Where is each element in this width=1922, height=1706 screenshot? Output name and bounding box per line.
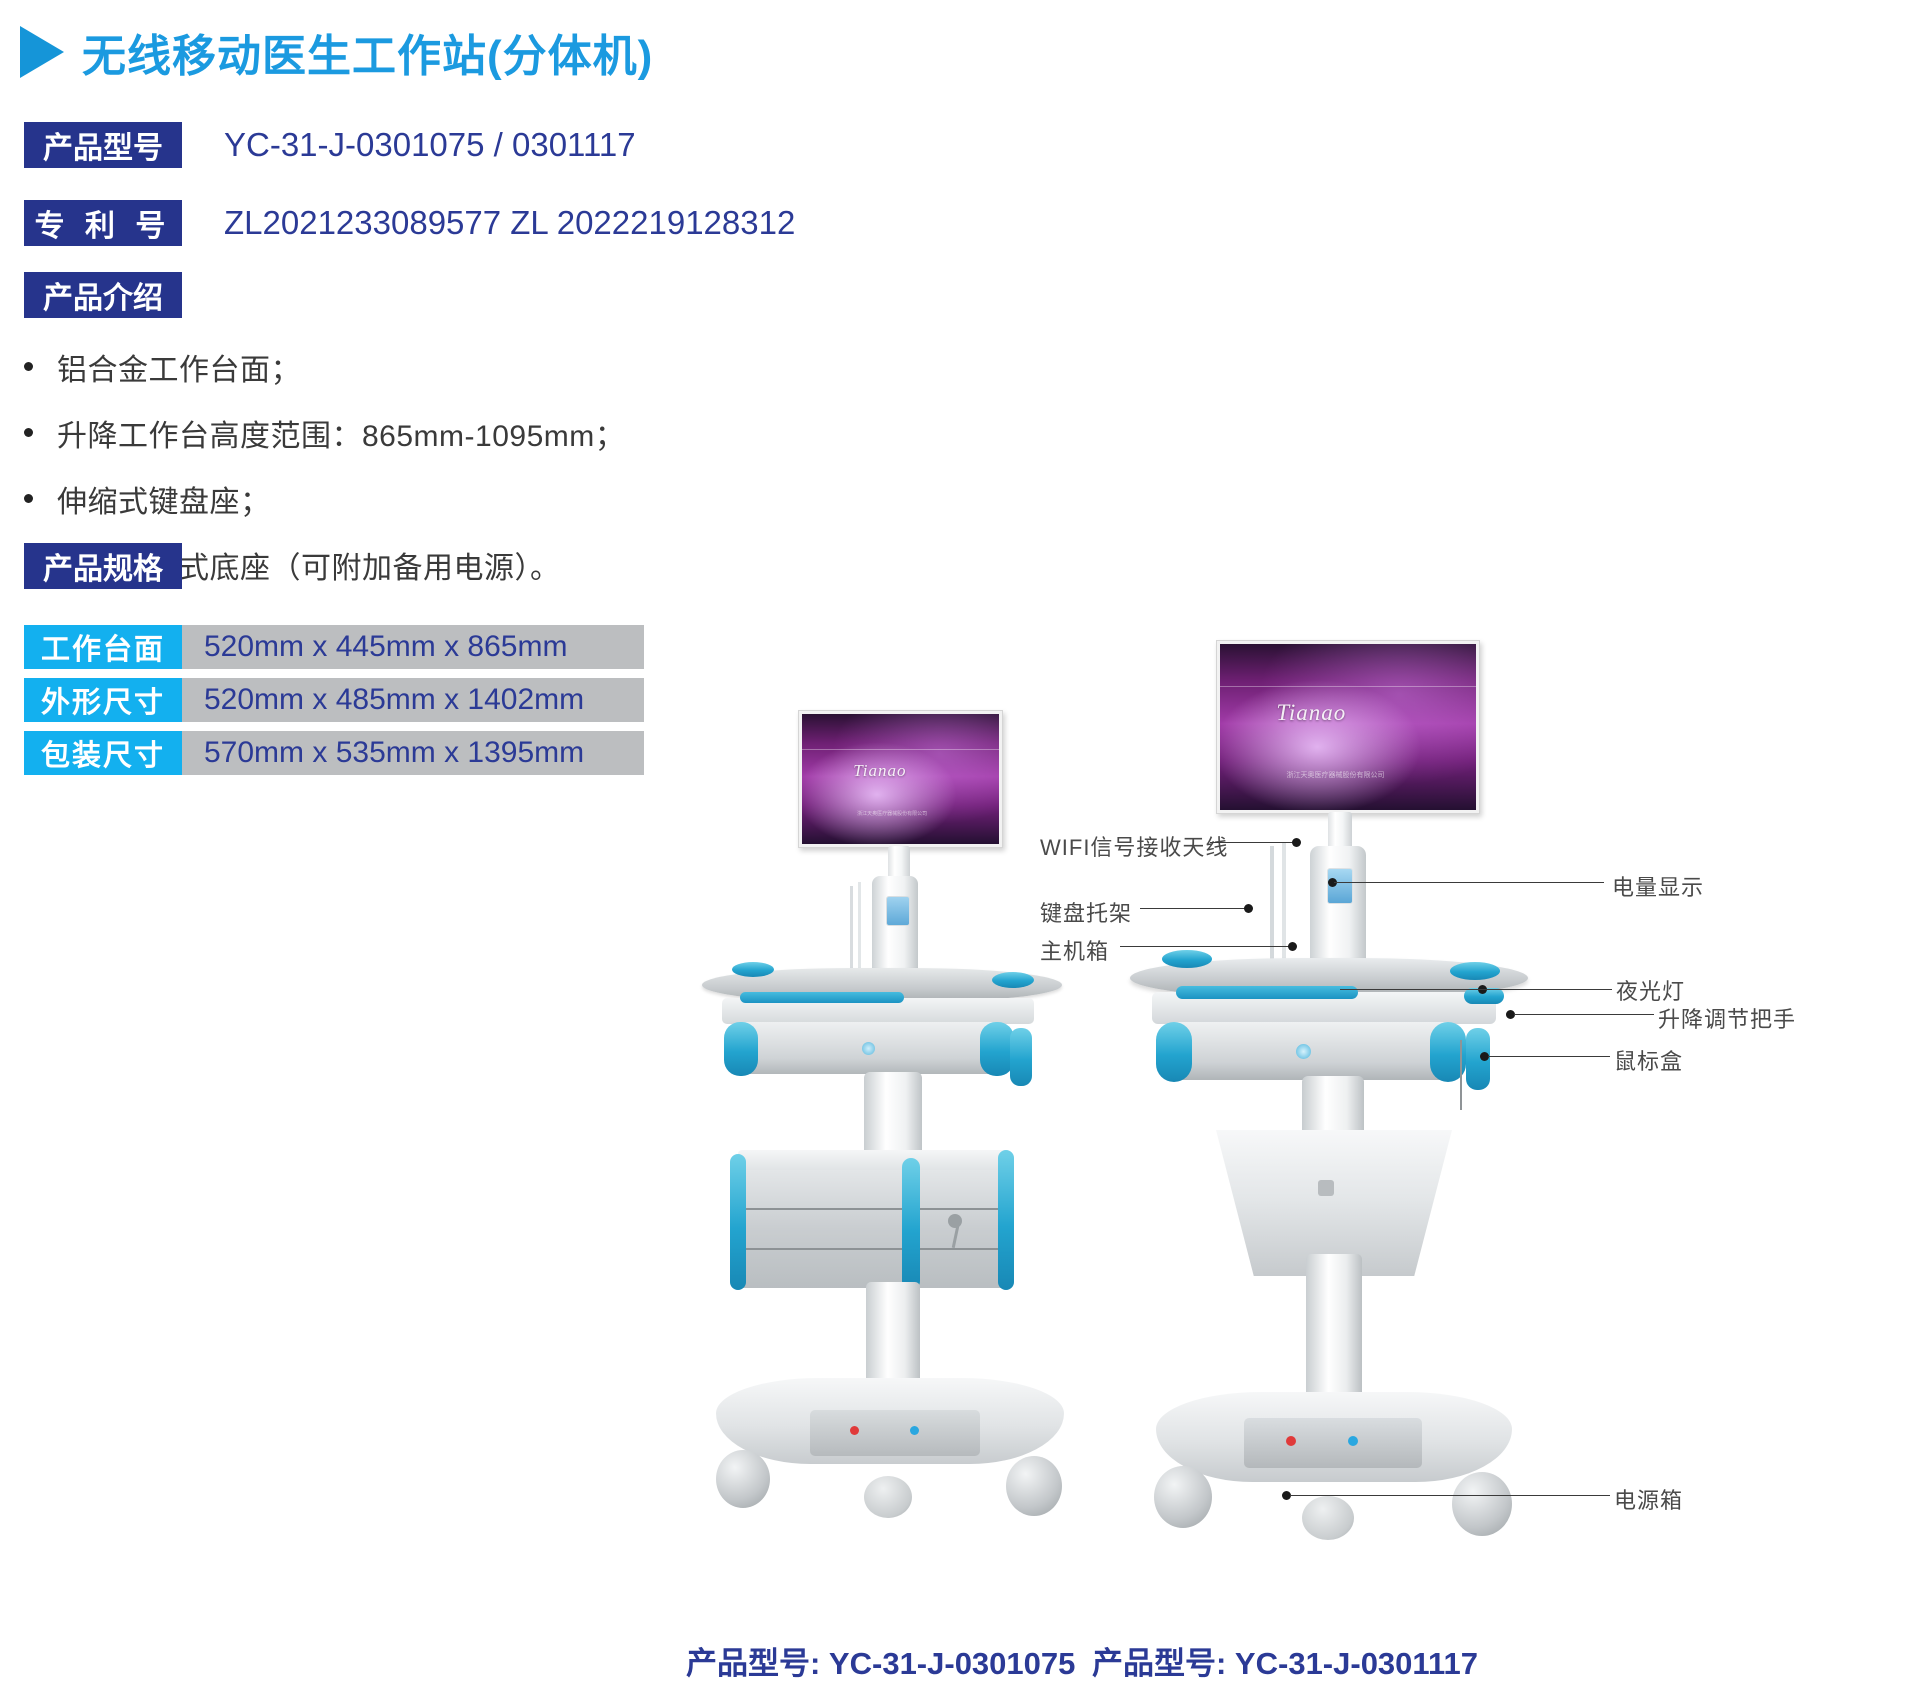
product-datasheet-page: 无线移动医生工作站(分体机) 产品型号 YC-31-J-0301075 / 03… — [0, 0, 1922, 1706]
product-model-label: 产品型号 — [24, 122, 182, 168]
table-row: 外形尺寸 520mm x 485mm x 1402mm — [24, 678, 644, 722]
battery-display-left — [886, 896, 910, 926]
spec-key: 工作台面 — [24, 625, 182, 669]
drawer-edge-left — [730, 1154, 746, 1290]
drawer-edge-right — [998, 1150, 1014, 1290]
drawer-edge-mid — [902, 1158, 920, 1290]
caption-left-product: 产品型号: YC-31-J-0301075 — [686, 1638, 1075, 1683]
table-row: 包装尺寸 570mm x 535mm x 1395mm — [24, 731, 644, 775]
monitor-right: Tianao 浙江天奥医疗器械股份有限公司 — [1216, 640, 1480, 814]
list-item-label: 伸缩式键盘座； — [57, 477, 271, 521]
keyboard-tray-handle-right — [1176, 986, 1358, 999]
bullet-dot-icon — [24, 362, 33, 371]
worktop-corner-pad-r — [992, 972, 1034, 988]
callout-power-box-leader — [1290, 1495, 1610, 1496]
callout-main-case-dot — [1288, 942, 1297, 951]
worktop-corner-pad-r — [1450, 962, 1500, 980]
bullet-dot-icon — [24, 428, 33, 437]
caster-wheel-left — [1154, 1466, 1212, 1528]
page-title: 无线移动医生工作站(分体机) — [82, 20, 653, 84]
patent-number-row: 专 利 号 ZL2021233089577 ZL 2022219128312 — [24, 200, 795, 246]
drawer-unit-top — [738, 1150, 1010, 1172]
page-title-row: 无线移动医生工作站(分体机) — [20, 20, 653, 84]
mouse-box-left — [1010, 1028, 1032, 1086]
drawer-divider-2 — [738, 1248, 1010, 1250]
spec-value: 570mm x 535mm x 1395mm — [182, 731, 644, 775]
power-indicator-left — [862, 1042, 875, 1055]
monitor-screen: Tianao 浙江天奥医疗器械股份有限公司 — [802, 714, 999, 844]
wifi-antenna-left-2 — [858, 882, 861, 972]
product-photo-right: Tianao 浙江天奥医疗器械股份有限公司 — [1120, 640, 1540, 1580]
callout-wifi-antenna-dot — [1292, 838, 1301, 847]
power-indicator-right — [1296, 1044, 1311, 1059]
spec-key: 包装尺寸 — [24, 731, 182, 775]
caption-right-product: 产品型号: YC-31-J-0301117 — [1092, 1638, 1478, 1683]
product-spec-label: 产品规格 — [24, 543, 182, 589]
monitor-screen: Tianao 浙江天奥医疗器械股份有限公司 — [1220, 644, 1476, 810]
worktop-corner-pad-l — [1162, 950, 1212, 968]
callout-mouse-box-label: 鼠标盒 — [1614, 1044, 1683, 1076]
brand-logo: Tianao — [1276, 700, 1346, 726]
monitor-neck — [888, 846, 910, 880]
main-case-end-left — [1156, 1022, 1192, 1082]
brand-logo: Tianao — [853, 761, 906, 781]
callout-keyboard-tray-dot — [1244, 904, 1253, 913]
keyboard-tray-handle-left — [740, 992, 904, 1003]
spec-key: 外形尺寸 — [24, 678, 182, 722]
list-item-label: 升降工作台高度范围：865mm-1095mm； — [57, 411, 625, 455]
callout-keyboard-tray-leader — [1140, 908, 1248, 909]
storage-bin-latch — [1318, 1180, 1334, 1196]
mouse-box-bracket — [1460, 1040, 1462, 1110]
monitor-left: Tianao 浙江天奥医疗器械股份有限公司 — [798, 710, 1003, 848]
worktop-corner-pad-l — [732, 962, 774, 977]
drawer-lock-icon — [948, 1214, 962, 1228]
wifi-antenna-left — [850, 886, 853, 972]
callout-main-case-leader — [1120, 946, 1292, 947]
callout-wifi-antenna-label: WIFI信号接收天线 — [1040, 830, 1228, 862]
product-images: Tianao 浙江天奥医疗器械股份有限公司 — [640, 640, 1922, 1640]
bullet-dot-icon — [24, 494, 33, 503]
callout-night-light-leader — [1340, 989, 1612, 990]
callout-lift-handle-label: 升降调节把手 — [1658, 1002, 1796, 1034]
callout-wifi-antenna-leader — [1210, 842, 1296, 843]
screen-subcaption: 浙江天奥医疗器械股份有限公司 — [857, 810, 927, 817]
caster-wheel-front — [864, 1476, 912, 1518]
main-case-end-right — [980, 1022, 1014, 1076]
main-case-right — [1162, 1022, 1462, 1080]
power-led-blue-left — [910, 1426, 919, 1435]
patent-number-value: ZL2021233089577 ZL 2022219128312 — [224, 204, 795, 242]
table-row: 工作台面 520mm x 445mm x 865mm — [24, 625, 644, 669]
product-model-value: YC-31-J-0301075 / 0301117 — [224, 126, 636, 164]
callout-main-case-label: 主机箱 — [1040, 934, 1109, 966]
list-item: 铝合金工作台面； — [24, 345, 625, 389]
callout-battery-display-leader — [1334, 882, 1604, 883]
power-led-blue-right — [1348, 1436, 1358, 1446]
list-item-label: 铝合金工作台面； — [57, 345, 301, 389]
spec-table: 工作台面 520mm x 445mm x 865mm 外形尺寸 520mm x … — [24, 625, 644, 784]
callout-power-box-label: 电源箱 — [1614, 1483, 1683, 1515]
base-post-right — [1306, 1254, 1362, 1414]
product-intro-label: 产品介绍 — [24, 272, 182, 318]
list-item: 升降工作台高度范围：865mm-1095mm； — [24, 411, 625, 455]
product-photo-left: Tianao 浙江天奥医疗器械股份有限公司 — [680, 710, 1080, 1570]
main-case-end-left — [724, 1022, 758, 1076]
caster-wheel-right — [1452, 1472, 1512, 1536]
power-led-red-right — [1286, 1436, 1296, 1446]
drawer-divider-1 — [738, 1208, 1010, 1210]
screen-subcaption: 浙江天奥医疗器械股份有限公司 — [1287, 770, 1385, 780]
caster-wheel-left — [716, 1450, 770, 1508]
patent-number-label: 专 利 号 — [24, 200, 182, 246]
product-model-row: 产品型号 YC-31-J-0301075 / 0301117 — [24, 122, 636, 168]
triangle-bullet-icon — [20, 26, 64, 78]
power-led-red-left — [850, 1426, 859, 1435]
list-item: 伸缩式键盘座； — [24, 477, 625, 521]
callout-battery-display-label: 电量显示 — [1612, 870, 1704, 902]
callout-keyboard-tray-label: 键盘托架 — [1040, 896, 1132, 928]
product-spec-heading-row: 产品规格 — [24, 543, 182, 589]
spec-value: 520mm x 485mm x 1402mm — [182, 678, 644, 722]
power-box-right — [1244, 1418, 1422, 1468]
callout-mouse-box-leader — [1488, 1056, 1610, 1057]
drawer-unit-left — [738, 1170, 1010, 1288]
power-box-left — [810, 1410, 980, 1456]
caster-wheel-right — [1006, 1456, 1062, 1516]
callout-lift-handle-leader — [1514, 1014, 1654, 1015]
caster-wheel-front — [1302, 1496, 1354, 1540]
spec-value: 520mm x 445mm x 865mm — [182, 625, 644, 669]
product-intro-heading-row: 产品介绍 — [24, 272, 182, 318]
